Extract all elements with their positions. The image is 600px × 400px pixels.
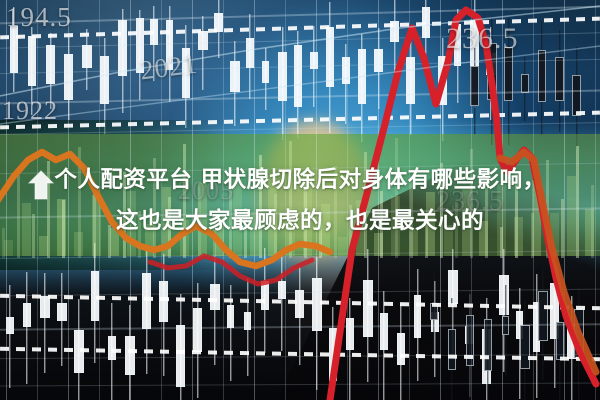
thin-trend-line-b: [0, 46, 600, 124]
red-wave-lower: [150, 256, 312, 284]
banner-image: 194.5 1922 2021 236.5 2005 236.5 个人配资平台 …: [0, 0, 600, 400]
overlay-number-top-right: 236.5: [446, 22, 519, 56]
caption-text-block: 个人配资平台 甲状腺切除后对身体有哪些影响， 这也是大家最顾虑的，也是最关心的: [0, 160, 600, 242]
overlay-number-mid-left: 1922: [2, 96, 58, 126]
caption-line-2: 这也是大家最顾虑的，也是最关心的: [0, 201, 600, 242]
overlay-number-top-left: 194.5: [6, 2, 72, 33]
caption-line-1: 个人配资平台 甲状腺切除后对身体有哪些影响，: [0, 160, 600, 201]
